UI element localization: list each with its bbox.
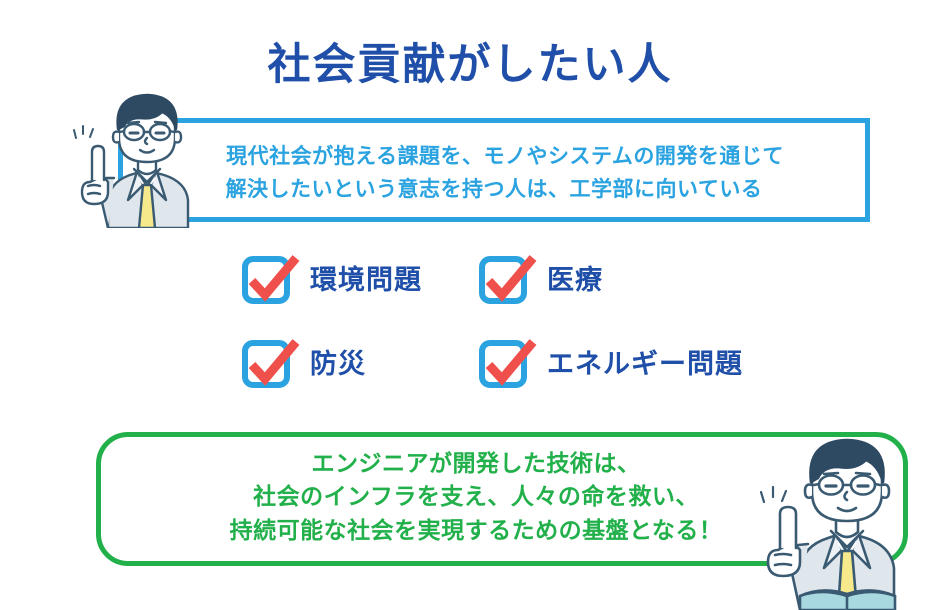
checklist-item-medical[interactable]: 医療 bbox=[477, 252, 603, 308]
check-mark-icon bbox=[477, 336, 539, 396]
checkbox-checked-icon[interactable] bbox=[240, 252, 296, 308]
checklist-item-label: 環境問題 bbox=[310, 267, 422, 294]
checklist-item-energy[interactable]: エネルギー問題 bbox=[477, 336, 743, 392]
check-mark-icon bbox=[240, 252, 302, 312]
green-callout-text: エンジニアが開発した技術は、 社会のインフラを支え、人々の命を救い、 持続可能な… bbox=[96, 448, 856, 548]
checklist-item-label: 防災 bbox=[310, 351, 366, 378]
checklist: 環境問題 医療 防災 bbox=[0, 252, 940, 402]
blue-callout-text: 現代社会が抱える課題を、モノやシステムの開発を通じて 解決したいという意志を持つ… bbox=[118, 140, 870, 205]
checkbox-checked-icon[interactable] bbox=[240, 336, 296, 392]
blue-callout-line-2: 解決したいという意志を持つ人は、工学部に向いている bbox=[118, 173, 870, 206]
check-mark-icon bbox=[477, 252, 539, 312]
checklist-item-disaster-prevention[interactable]: 防災 bbox=[240, 336, 366, 392]
checklist-item-label: エネルギー問題 bbox=[547, 351, 743, 378]
check-mark-icon bbox=[240, 336, 302, 396]
green-callout-line-1: エンジニアが開発した技術は、 bbox=[96, 448, 856, 481]
checklist-item-environment[interactable]: 環境問題 bbox=[240, 252, 422, 308]
checkbox-checked-icon[interactable] bbox=[477, 252, 533, 308]
checkbox-checked-icon[interactable] bbox=[477, 336, 533, 392]
infographic-canvas: 社会貢献がしたい人 現代社会が抱える課題を、モノやシステムの開発を通じて 解決し… bbox=[0, 0, 940, 610]
blue-callout-line-1: 現代社会が抱える課題を、モノやシステムの開発を通じて bbox=[118, 140, 870, 173]
checklist-item-label: 医療 bbox=[547, 267, 603, 294]
page-title: 社会貢献がしたい人 bbox=[0, 42, 940, 89]
green-callout-line-2: 社会のインフラを支え、人々の命を救い、 bbox=[96, 481, 856, 514]
green-callout-line-3: 持続可能な社会を実現するための基盤となる！ bbox=[96, 515, 856, 548]
